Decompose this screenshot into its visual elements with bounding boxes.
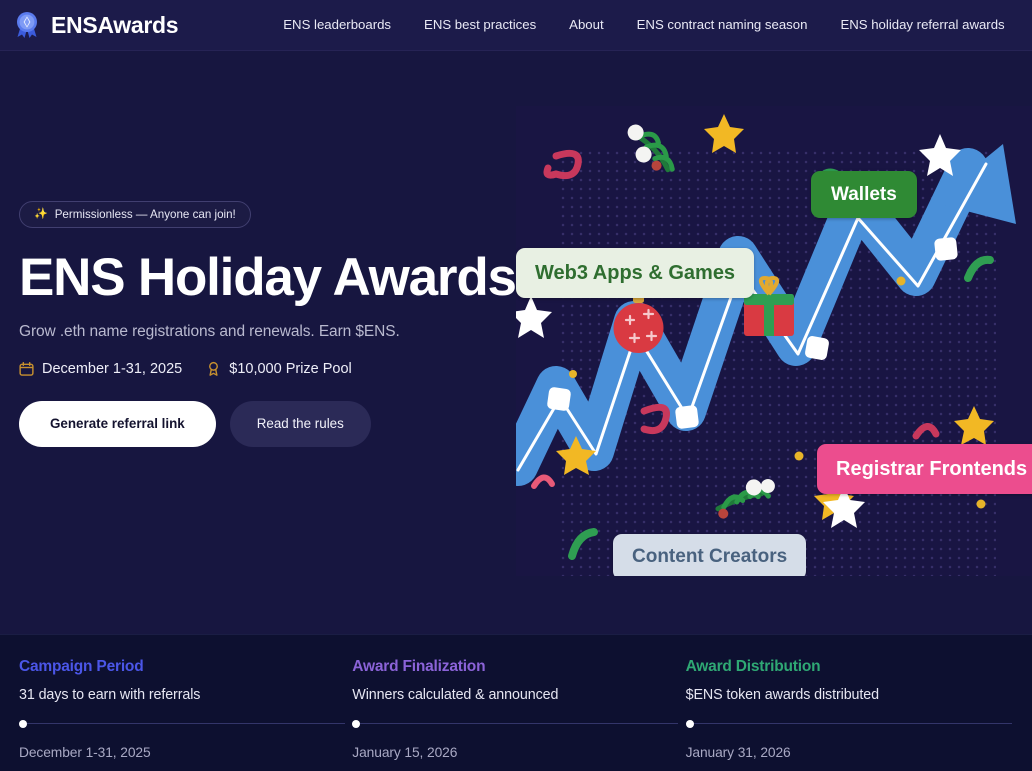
timeline-line — [686, 723, 1012, 724]
sparkles-icon: ✨ — [34, 209, 48, 220]
category-label-content-creators[interactable]: Content Creators — [613, 534, 806, 576]
brand-logo[interactable]: ENSAwards — [12, 10, 178, 40]
timeline-line — [352, 723, 678, 724]
timeline-step-description: 31 days to earn with referrals — [19, 687, 313, 703]
timeline-step-date: January 15, 2026 — [352, 745, 646, 760]
timeline-track — [352, 720, 646, 728]
read-the-rules-button[interactable]: Read the rules — [230, 401, 371, 447]
page-title: ENS Holiday Awards — [19, 250, 489, 306]
award-rosette-icon — [12, 10, 42, 40]
timeline-dot — [686, 720, 694, 728]
top-navbar: ENSAwards ENS leaderboards ENS best prac… — [0, 0, 1032, 51]
permissionless-badge[interactable]: ✨ Permissionless — Anyone can join! — [19, 201, 251, 228]
award-medal-icon — [206, 361, 221, 377]
hero-illustration: Wallets Web3 Apps & Games Registrar Fron… — [516, 106, 1032, 576]
nav-link-ens-holiday-referral-awards[interactable]: ENS holiday referral awards — [840, 18, 1004, 31]
hero-cta-row: Generate referral link Read the rules — [19, 401, 489, 447]
campaign-dates: December 1-31, 2025 — [19, 361, 182, 377]
campaign-dates-label: December 1-31, 2025 — [42, 361, 182, 377]
permissionless-badge-label: Permissionless — Anyone can join! — [55, 208, 236, 221]
category-label-registrar-frontends[interactable]: Registrar Frontends — [817, 444, 1032, 494]
category-label-web3-apps-and-games[interactable]: Web3 Apps & Games — [516, 248, 754, 298]
nav-link-ens-leaderboards[interactable]: ENS leaderboards — [283, 18, 391, 31]
timeline-line — [19, 723, 345, 724]
prize-pool-label: $10,000 Prize Pool — [229, 361, 352, 377]
hero-section: ✨ Permissionless — Anyone can join! ENS … — [0, 51, 1032, 634]
timeline-track — [19, 720, 313, 728]
nav-links: ENS leaderboards ENS best practices Abou… — [283, 18, 1004, 31]
timeline-step-date: December 1-31, 2025 — [19, 745, 313, 760]
timeline-dot — [352, 720, 360, 728]
hero-subtitle: Grow .eth name registrations and renewal… — [19, 323, 489, 341]
calendar-icon — [19, 361, 34, 377]
generate-referral-link-button[interactable]: Generate referral link — [19, 401, 216, 447]
timeline-dot — [19, 720, 27, 728]
nav-link-ens-contract-naming-season[interactable]: ENS contract naming season — [637, 18, 808, 31]
hero-meta-row: December 1-31, 2025 $10,000 Prize Pool — [19, 361, 489, 377]
timeline-step-heading: Campaign Period — [19, 659, 313, 675]
timeline-step-heading: Award Distribution — [686, 659, 980, 675]
nav-link-ens-best-practices[interactable]: ENS best practices — [424, 18, 536, 31]
timeline-track — [686, 720, 980, 728]
timeline-step-description: Winners calculated & announced — [352, 687, 646, 703]
hero-copy: ✨ Permissionless — Anyone can join! ENS … — [19, 201, 489, 447]
timeline-section: Campaign Period 31 days to earn with ref… — [0, 634, 1032, 771]
nav-link-about[interactable]: About — [569, 18, 603, 31]
timeline-step-description: $ENS token awards distributed — [686, 687, 980, 703]
brand-name: ENSAwards — [51, 14, 178, 37]
timeline-step-award-distribution: Award Distribution $ENS token awards dis… — [667, 635, 1000, 771]
category-label-wallets[interactable]: Wallets — [811, 171, 917, 218]
timeline-step-date: January 31, 2026 — [686, 745, 980, 760]
timeline-step-award-finalization: Award Finalization Winners calculated & … — [333, 635, 666, 771]
prize-pool: $10,000 Prize Pool — [206, 361, 352, 377]
timeline-step-campaign-period: Campaign Period 31 days to earn with ref… — [0, 635, 333, 771]
timeline-step-heading: Award Finalization — [352, 659, 646, 675]
